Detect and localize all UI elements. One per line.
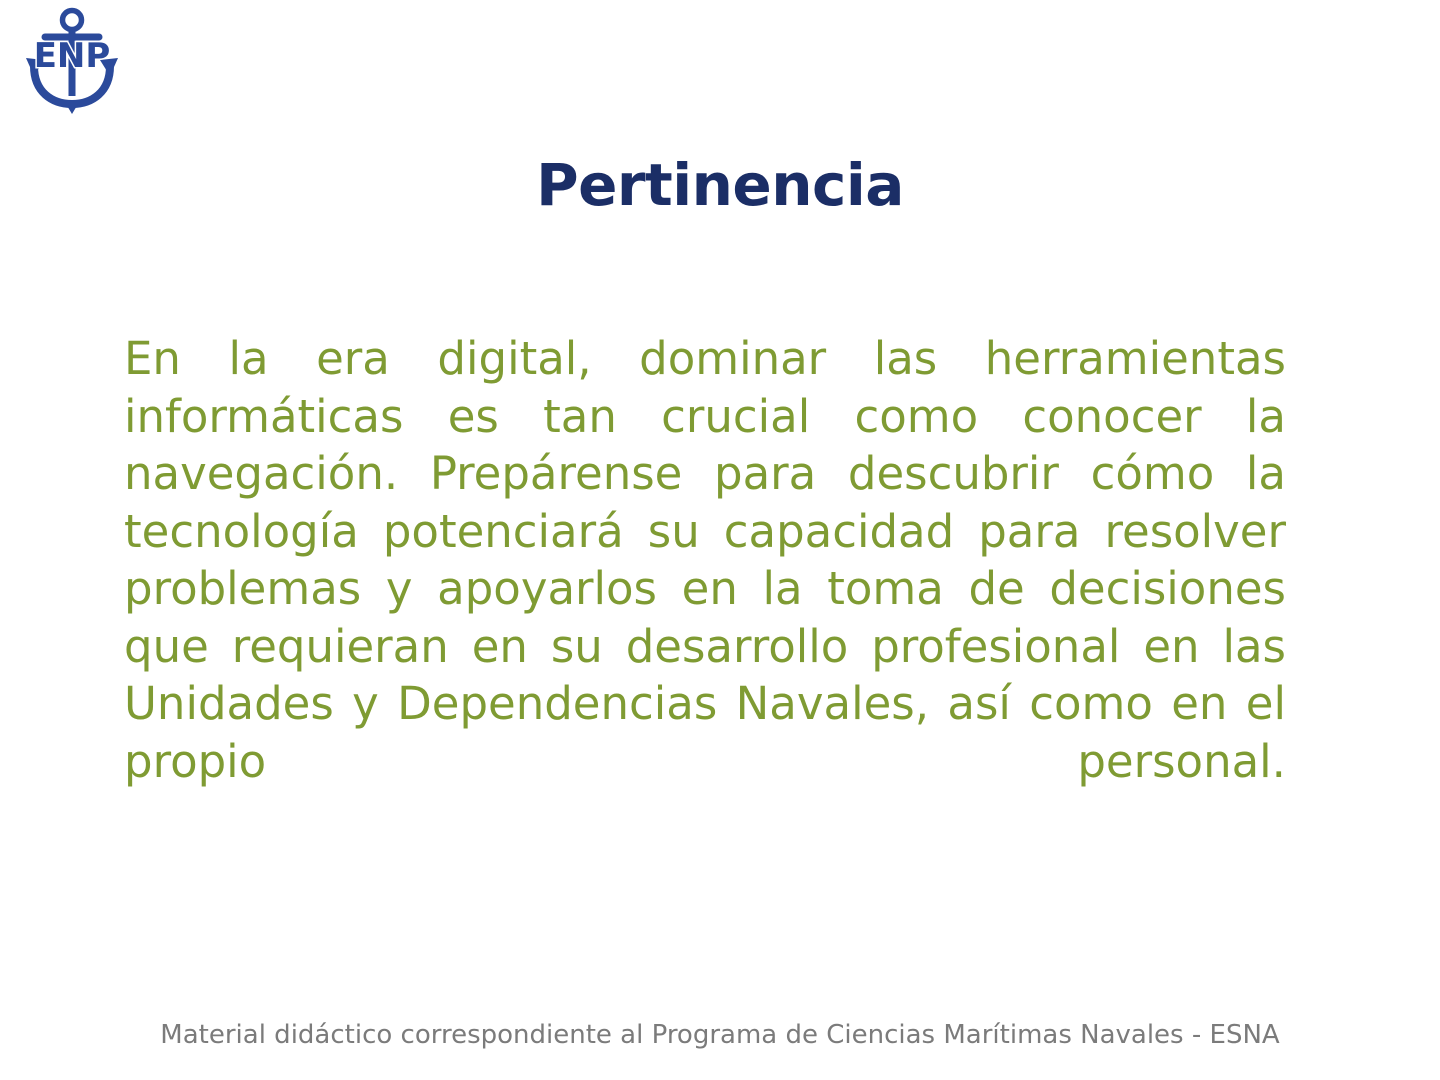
page-title: Pertinencia	[0, 155, 1440, 216]
enp-letters: ENP	[34, 36, 111, 76]
anchor-icon: ENP	[20, 4, 124, 116]
enp-anchor-logo: ENP	[20, 4, 124, 116]
slide-canvas: ENP Pertinencia En la era digital, domin…	[0, 0, 1440, 1080]
body-paragraph: En la era digital, dominar las herramien…	[124, 330, 1286, 848]
footer-credit: Material didáctico correspondiente al Pr…	[0, 1018, 1440, 1052]
